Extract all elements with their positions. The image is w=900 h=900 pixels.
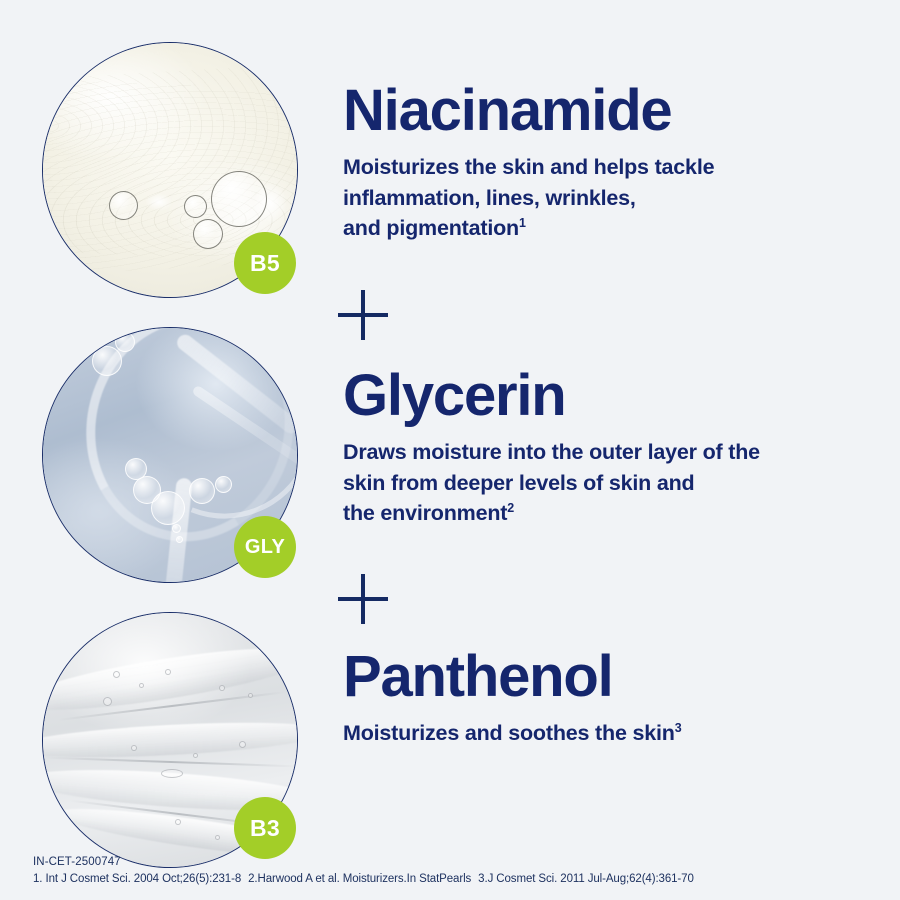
description-text: and pigmentation xyxy=(343,216,519,240)
ingredient-heading: Niacinamide xyxy=(343,82,714,140)
bubble xyxy=(248,693,253,698)
bubble xyxy=(131,745,137,751)
badge-label: B5 xyxy=(250,252,280,275)
footnote-marker: 2 xyxy=(507,501,514,515)
ingredient-heading: Panthenol xyxy=(343,648,681,706)
bubble xyxy=(175,819,181,825)
bubble xyxy=(239,741,246,748)
bubble xyxy=(211,171,267,227)
bubble xyxy=(172,524,181,533)
references-line: 1. Int J Cosmet Sci. 2004 Oct;26(5):231-… xyxy=(33,871,694,888)
bubble xyxy=(139,683,144,688)
reference-item: 3.J Cosmet Sci. 2011 Jul-Aug;62(4):361-7… xyxy=(478,873,694,885)
ingredient-heading: Glycerin xyxy=(343,367,760,425)
ingredient-text-niacinamide: Niacinamide Moisturizes the skin and hel… xyxy=(343,82,714,244)
ingredient-badge-b3: B3 xyxy=(234,797,296,859)
bubble xyxy=(92,346,122,376)
reference-item: 1. Int J Cosmet Sci. 2004 Oct;26(5):231-… xyxy=(33,873,241,885)
description-line: Moisturizes the skin and helps tackle xyxy=(343,152,714,183)
infographic-canvas: B5 GLY xyxy=(0,0,900,900)
bubble xyxy=(193,219,223,249)
badge-label: B3 xyxy=(250,817,280,840)
bubble xyxy=(184,195,207,218)
bubble xyxy=(113,671,120,678)
material-code: IN-CET-2500747 xyxy=(33,854,694,871)
description-line: Moisturizes and soothes the skin3 xyxy=(343,718,681,749)
description-line: and pigmentation1 xyxy=(343,213,714,244)
ingredient-text-panthenol: Panthenol Moisturizes and soothes the sk… xyxy=(343,648,681,749)
footnote-marker: 3 xyxy=(675,721,682,735)
bubble xyxy=(151,491,185,525)
highlight xyxy=(145,193,173,211)
bubble xyxy=(193,753,198,758)
description-line: Draws moisture into the outer layer of t… xyxy=(343,437,760,468)
ingredient-description: Moisturizes and soothes the skin3 xyxy=(343,718,681,749)
ingredient-text-glycerin: Glycerin Draws moisture into the outer l… xyxy=(343,367,760,529)
plus-icon xyxy=(338,574,388,624)
description-line: the environment2 xyxy=(343,498,760,529)
bubble xyxy=(176,536,183,543)
description-line: inflammation, lines, wrinkles, xyxy=(343,183,714,214)
ingredient-description: Moisturizes the skin and helps tackle in… xyxy=(343,152,714,244)
footer: IN-CET-2500747 1. Int J Cosmet Sci. 2004… xyxy=(33,854,694,889)
description-text: the environment xyxy=(343,501,507,525)
badge-label: GLY xyxy=(245,537,285,557)
ingredient-description: Draws moisture into the outer layer of t… xyxy=(343,437,760,529)
footnote-marker: 1 xyxy=(519,216,526,230)
bubble xyxy=(115,332,135,352)
bubble xyxy=(215,835,220,840)
bubble xyxy=(165,669,171,675)
bubble xyxy=(189,478,215,504)
reference-item: 2.Harwood A et al. Moisturizers.In StatP… xyxy=(248,873,471,885)
plus-icon xyxy=(338,290,388,340)
bubble xyxy=(161,769,183,778)
description-line: skin from deeper levels of skin and xyxy=(343,468,760,499)
bubble xyxy=(109,191,138,220)
ingredient-badge-gly: GLY xyxy=(234,516,296,578)
bubble xyxy=(219,685,225,691)
description-text: Moisturizes and soothes the skin xyxy=(343,721,675,745)
bubble xyxy=(215,476,232,493)
ingredient-badge-b5: B5 xyxy=(234,232,296,294)
bubble xyxy=(103,697,112,706)
